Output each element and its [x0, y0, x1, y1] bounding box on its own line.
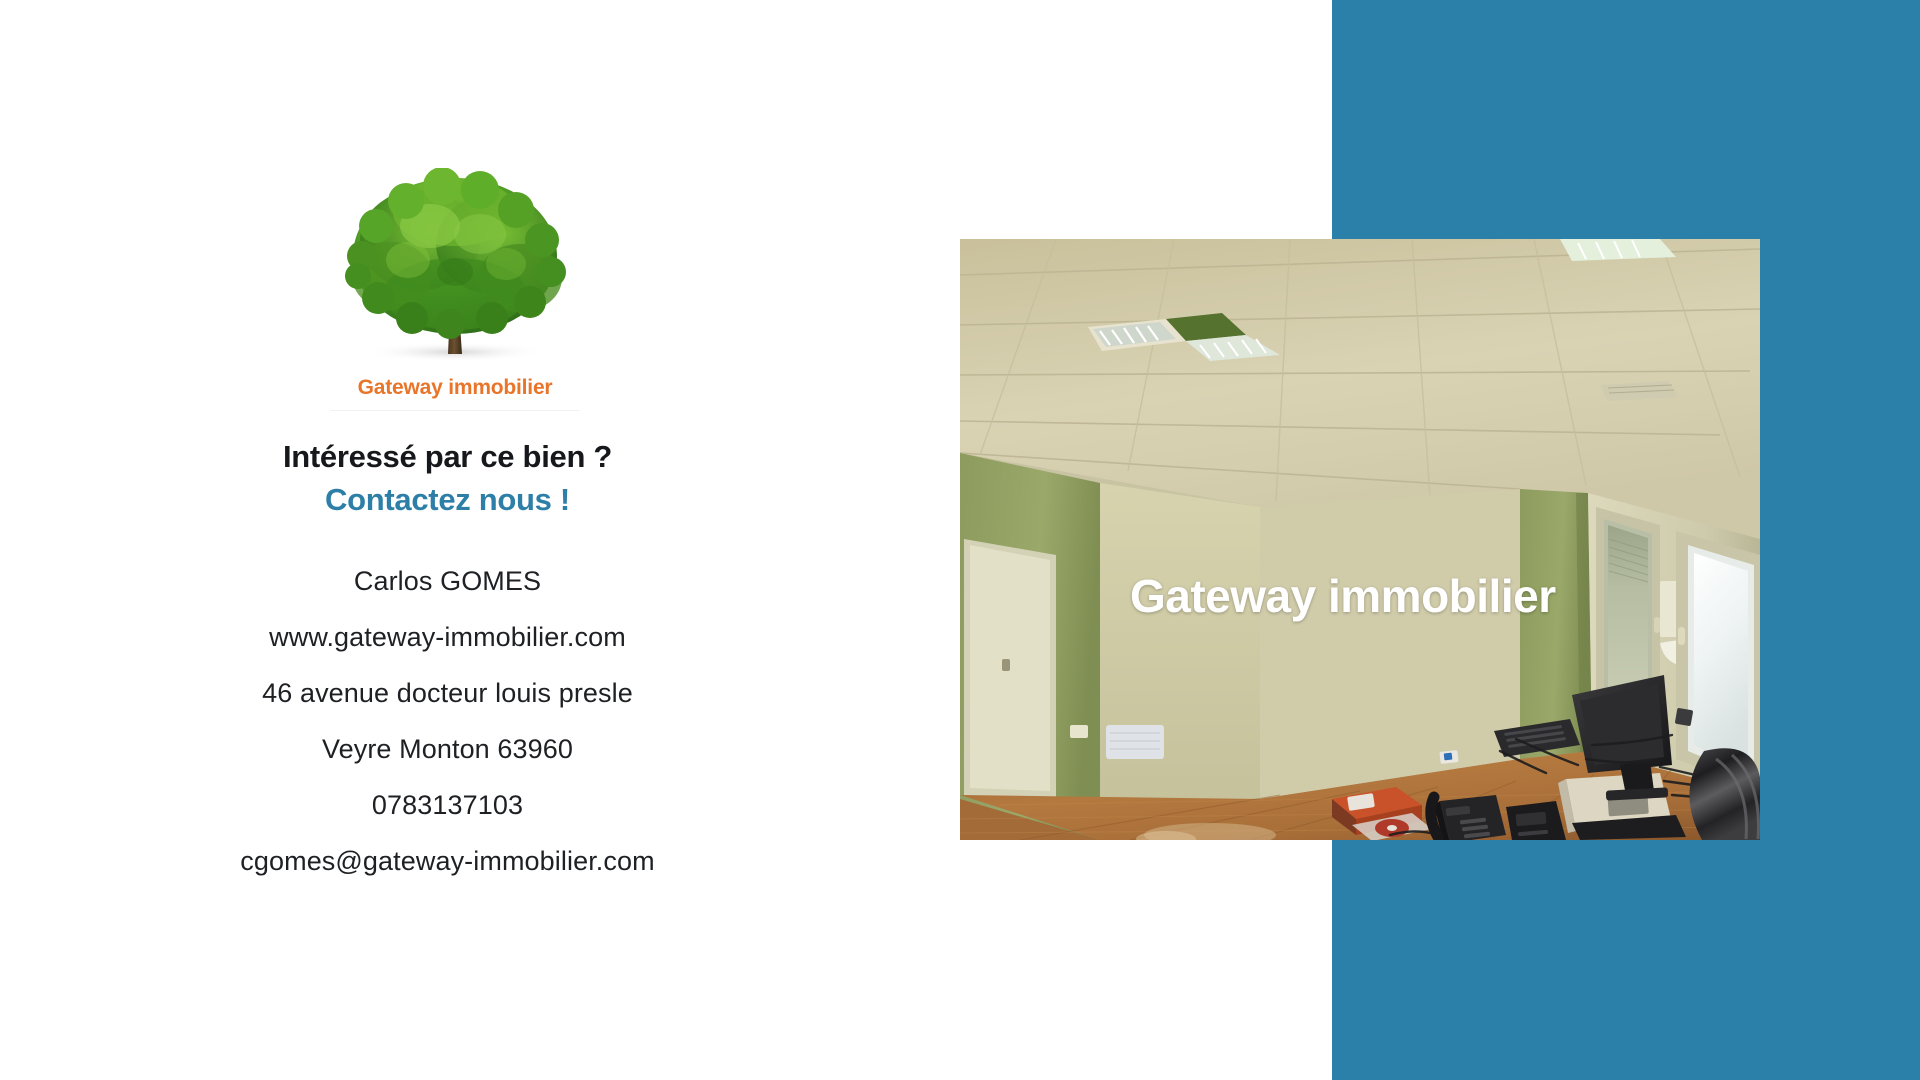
logo-divider: [330, 410, 580, 411]
contact-city: Veyre Monton 63960: [0, 736, 895, 763]
brand-logo-block: Gateway immobilier: [330, 168, 580, 411]
headline-block: Intéressé par ce bien ? Contactez nous !: [0, 438, 895, 520]
contact-details-list: Carlos GOMES www.gateway-immobilier.com …: [0, 568, 895, 875]
property-photo[interactable]: Gateway immobilier: [960, 239, 1760, 840]
contact-phone[interactable]: 0783137103: [0, 792, 895, 819]
contact-email[interactable]: cgomes@gateway-immobilier.com: [0, 848, 895, 875]
brand-wordmark: Gateway immobilier: [330, 376, 580, 400]
property-photo-image: [960, 239, 1760, 840]
headline-call-to-action: Contactez nous !: [0, 481, 895, 520]
tree-logo-icon: [330, 168, 580, 380]
contact-website[interactable]: www.gateway-immobilier.com: [0, 624, 895, 651]
contact-agent-name: Carlos GOMES: [0, 568, 895, 595]
headline-question: Intéressé par ce bien ?: [0, 438, 895, 477]
contact-panel: Gateway immobilier Intéressé par ce bien…: [0, 0, 960, 1080]
contact-address: 46 avenue docteur louis presle: [0, 680, 895, 707]
